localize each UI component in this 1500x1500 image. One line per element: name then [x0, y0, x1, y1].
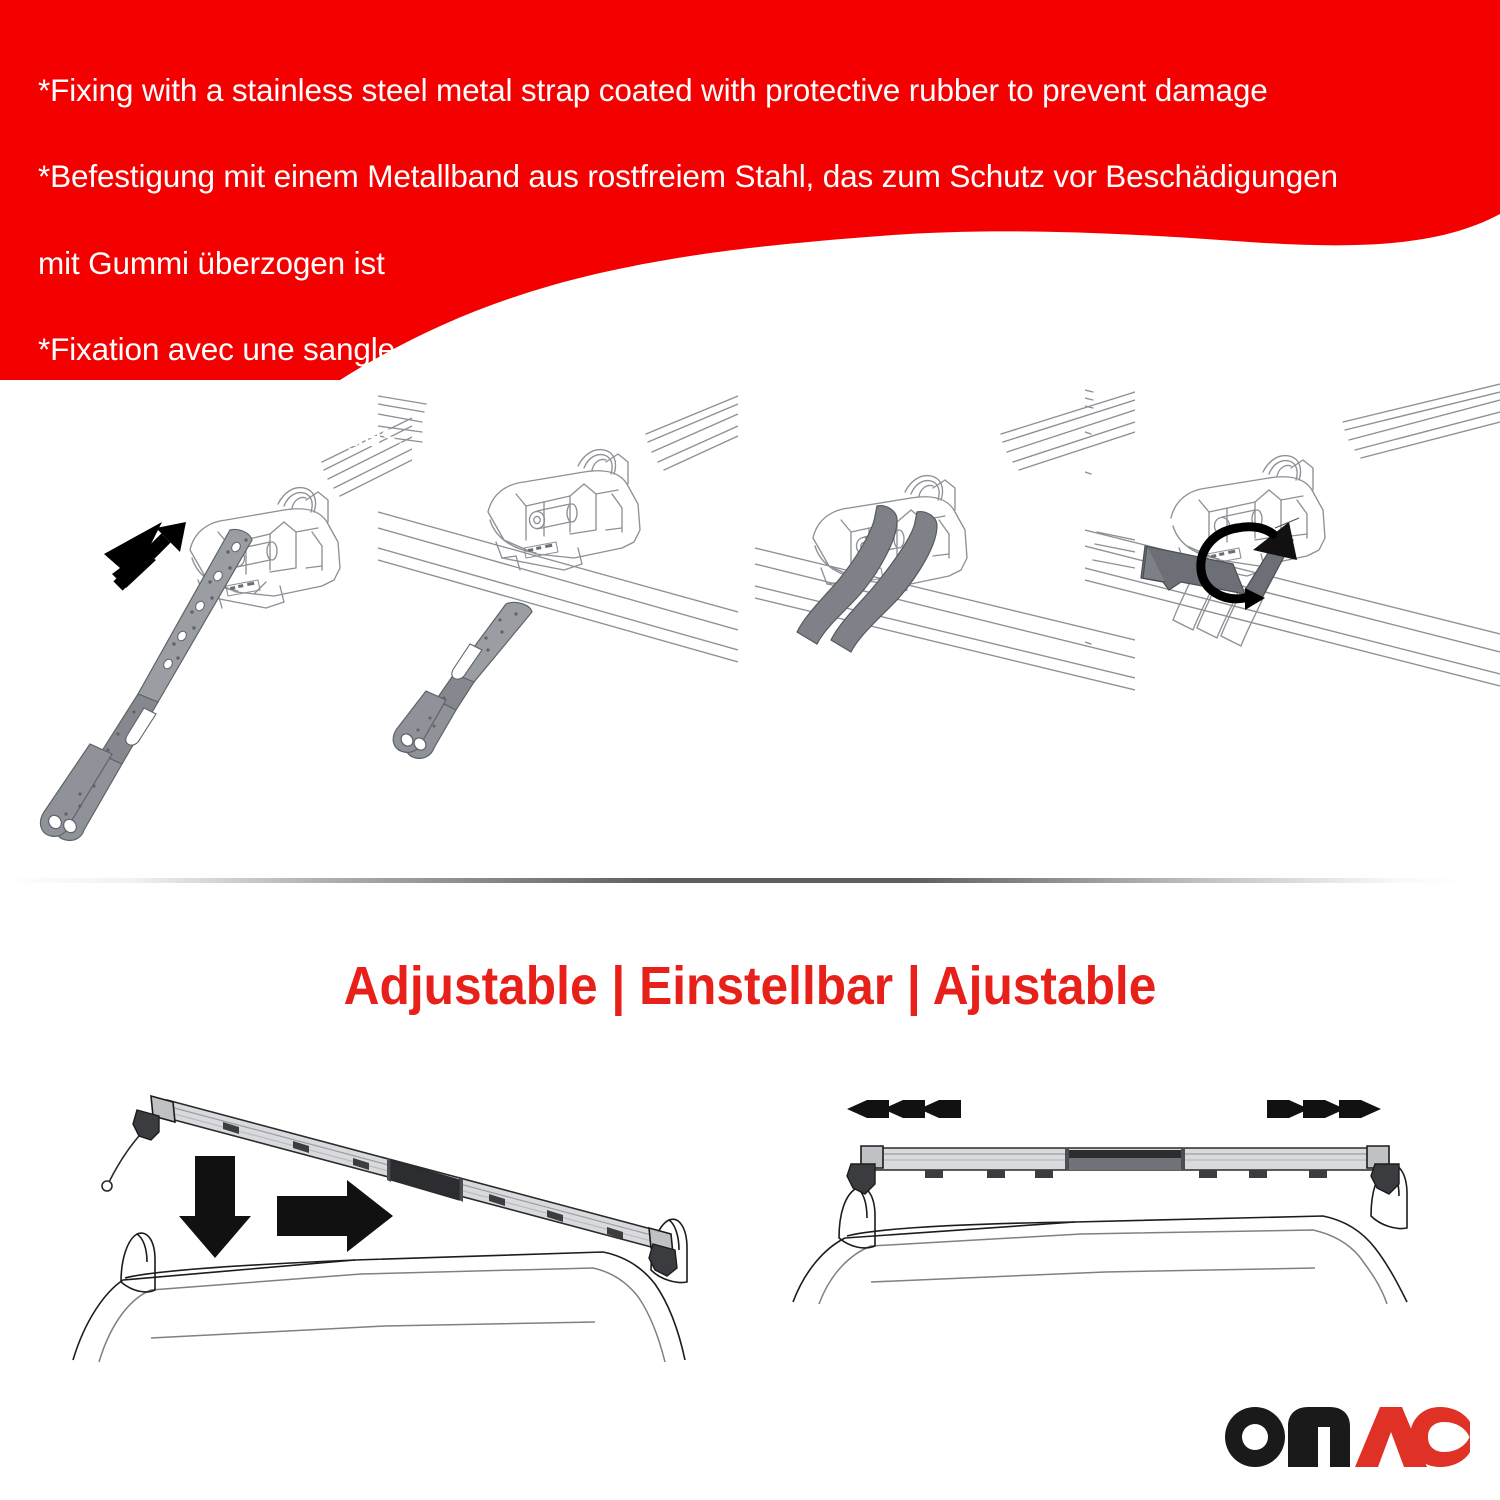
- section-title-adjustable: Adjustable | Einstellbar | Ajustable: [60, 955, 1440, 1017]
- fig-right-illustration: [775, 1070, 1475, 1400]
- banner-line-fr-2: pour éviter les dommages.: [38, 414, 1458, 457]
- banner-line-fr-1: *Fixation avec une sangle en métal inoxy…: [38, 328, 1458, 371]
- crossbar-assembly: [102, 1096, 677, 1276]
- fig-left-illustration: [55, 1070, 755, 1400]
- down-arrow: [179, 1156, 251, 1258]
- red-banner: *Fixing with a stainless steel metal str…: [0, 0, 1500, 380]
- banner-line-en: *Fixing with a stainless steel metal str…: [38, 69, 1458, 112]
- banner-line-de-2: mit Gummi überzogen ist: [38, 242, 1458, 285]
- banner-line-de-1: *Befestigung mit einem Metallband aus ro…: [38, 155, 1458, 198]
- triple-left-arrow: [847, 1100, 961, 1118]
- figure-lower-crossbar-onto-roof: [55, 1070, 755, 1400]
- crossbar-assembly-installed: [847, 1146, 1399, 1194]
- omac-logo-mark: [1222, 1406, 1472, 1468]
- triple-right-arrow: [1267, 1100, 1381, 1118]
- adjustable-figures-row: [0, 1070, 1500, 1400]
- section-divider: [0, 878, 1470, 883]
- infographic-page: *Fixing with a stainless steel metal str…: [0, 0, 1500, 1500]
- omac-logo: [1222, 1406, 1472, 1468]
- banner-text-block: *Fixing with a stainless steel metal str…: [38, 26, 1458, 501]
- figure-extend-crossbar-width: [775, 1070, 1475, 1400]
- right-arrow: [277, 1180, 393, 1252]
